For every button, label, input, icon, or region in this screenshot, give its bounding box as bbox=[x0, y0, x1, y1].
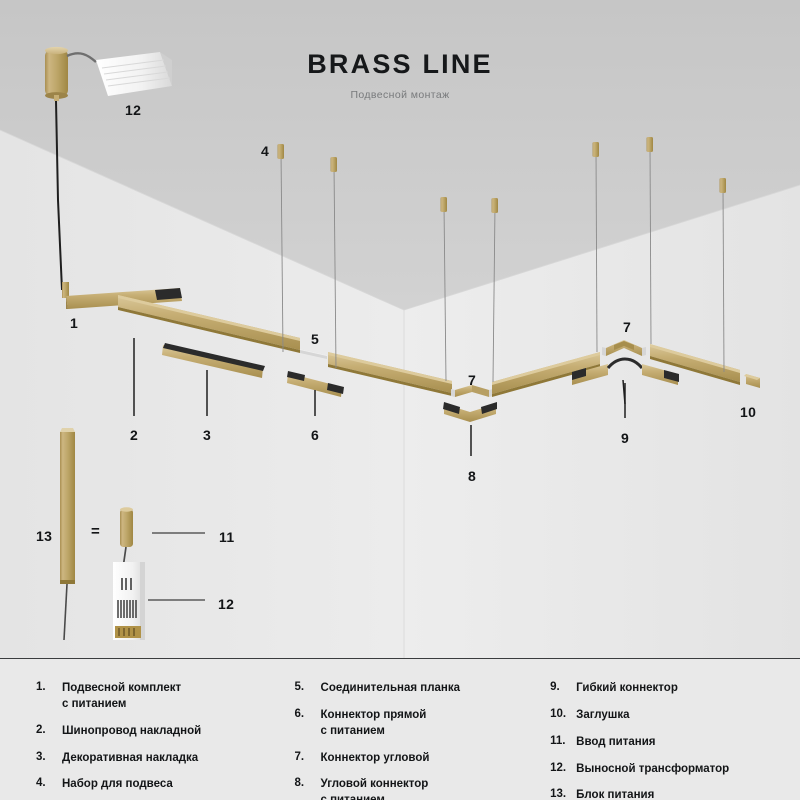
callout-number-1: 1 bbox=[70, 315, 78, 331]
legend-item-label: Гибкий коннектор bbox=[576, 681, 678, 697]
callout-number-6: 6 bbox=[311, 427, 319, 443]
legend-item-label: Коннектор угловой bbox=[321, 751, 430, 767]
legend-item: 8.Угловой коннекторс питанием bbox=[295, 777, 551, 800]
callout-number-12a: 12 bbox=[125, 102, 141, 118]
callout-number-11: 11 bbox=[219, 529, 234, 545]
legend-item: 6.Коннектор прямойс питанием bbox=[295, 708, 551, 740]
callout-number-3: 3 bbox=[203, 427, 211, 443]
legend-column-1: 1.Подвесной комплектс питанием2.Шинопров… bbox=[36, 681, 295, 800]
callout-number-4: 4 bbox=[261, 143, 269, 159]
callout-number-8: 8 bbox=[468, 468, 476, 484]
part-12-remote-transformer bbox=[113, 562, 145, 640]
page-title: BRASS LINE bbox=[0, 50, 800, 80]
callout-number-13: 13 bbox=[36, 528, 52, 544]
legend-item-number: 9. bbox=[550, 681, 576, 697]
callout-number-7b: 7 bbox=[623, 319, 631, 335]
legend-item: 10.Заглушка bbox=[550, 708, 772, 724]
equals-sign: = bbox=[91, 523, 100, 540]
legend-item-label: Выносной трансформатор bbox=[576, 762, 729, 778]
callout-number-7a: 7 bbox=[468, 372, 476, 388]
product-diagram-page: BRASS LINE Подвесной монтаж 123456778910… bbox=[0, 0, 800, 800]
legend-item-label: Коннектор прямойс питанием bbox=[321, 708, 427, 740]
legend-item-label: Шинопровод накладной bbox=[62, 724, 201, 740]
legend-item-number: 2. bbox=[36, 724, 62, 740]
callout-number-12b: 12 bbox=[218, 596, 234, 612]
legend-item-number: 1. bbox=[36, 681, 62, 713]
legend-item-number: 8. bbox=[295, 777, 321, 800]
legend-item: 13.Блок питания bbox=[550, 788, 772, 800]
legend-item: 5.Соединительная планка bbox=[295, 681, 551, 697]
legend-item-number: 3. bbox=[36, 751, 62, 767]
legend-item-number: 13. bbox=[550, 788, 576, 800]
callout-number-10: 10 bbox=[740, 404, 756, 420]
callout-number-9: 9 bbox=[621, 430, 629, 446]
legend-item: 9.Гибкий коннектор bbox=[550, 681, 772, 697]
legend-item: 12.Выносной трансформатор bbox=[550, 762, 772, 778]
callout-number-2: 2 bbox=[130, 427, 138, 443]
legend-item-number: 11. bbox=[550, 735, 576, 751]
legend-item-number: 12. bbox=[550, 762, 576, 778]
legend-item-label: Набор для подвеса bbox=[62, 777, 173, 793]
legend-item-label: Заглушка bbox=[576, 708, 629, 724]
legend-item-number: 4. bbox=[36, 777, 62, 793]
callout-number-5: 5 bbox=[311, 331, 319, 347]
legend-item: 1.Подвесной комплектс питанием bbox=[36, 681, 295, 713]
legend-column-3: 9.Гибкий коннектор10.Заглушка11.Ввод пит… bbox=[550, 681, 772, 800]
legend-item: 4.Набор для подвеса bbox=[36, 777, 295, 793]
page-subtitle: Подвесной монтаж bbox=[0, 89, 800, 101]
legend-item-number: 6. bbox=[295, 708, 321, 740]
legend-item-label: Соединительная планка bbox=[321, 681, 461, 697]
legend-column-2: 5.Соединительная планка6.Коннектор прямо… bbox=[295, 681, 551, 800]
legend-item-label: Угловой коннекторс питанием bbox=[321, 777, 429, 800]
legend-item-label: Блок питания bbox=[576, 788, 654, 800]
room-scene: BRASS LINE Подвесной монтаж 123456778910… bbox=[0, 0, 800, 658]
legend-item-number: 10. bbox=[550, 708, 576, 724]
legend-item-label: Ввод питания bbox=[576, 735, 655, 751]
legend-item: 3.Декоративная накладка bbox=[36, 751, 295, 767]
legend-item: 11.Ввод питания bbox=[550, 735, 772, 751]
legend-item: 2.Шинопровод накладной bbox=[36, 724, 295, 740]
legend-item-label: Декоративная накладка bbox=[62, 751, 198, 767]
legend-item-number: 7. bbox=[295, 751, 321, 767]
legend-item-number: 5. bbox=[295, 681, 321, 697]
legend-panel: 1.Подвесной комплектс питанием2.Шинопров… bbox=[0, 658, 800, 800]
header: BRASS LINE Подвесной монтаж bbox=[0, 50, 800, 101]
legend-item-label: Подвесной комплектс питанием bbox=[62, 681, 181, 713]
legend-item: 7.Коннектор угловой bbox=[295, 751, 551, 767]
